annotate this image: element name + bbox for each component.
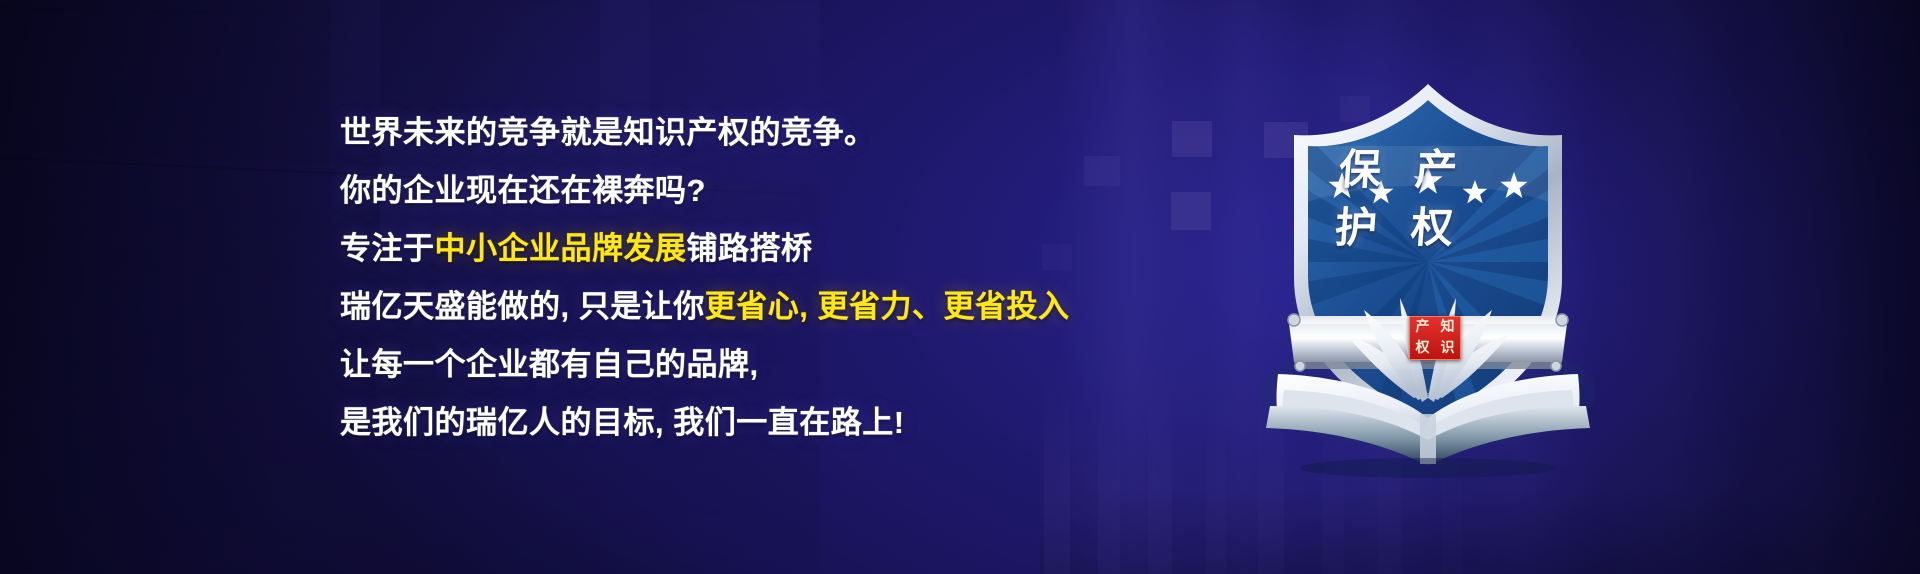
shield-char-1: 保 — [1338, 150, 1383, 192]
headline-line-4-highlight: 更省心, 更省力、更省投入 — [705, 289, 1070, 324]
seal-char-1: 产 — [1416, 321, 1430, 335]
headline-line-3-text-a: 专注于 — [340, 231, 435, 266]
red-seal-stamp: 产 知 权 识 — [1409, 316, 1461, 360]
shield-char-4: 权 — [1409, 208, 1454, 250]
shield-char-2: 产 — [1414, 150, 1459, 192]
promotional-banner: 世界未来的竞争就是知识产权的竞争。 你的企业现在还在裸奔吗? 专注于中小企业品牌… — [0, 0, 1920, 574]
seal-char-4: 识 — [1441, 342, 1455, 356]
headline-line-6-text: 是我们的瑞亿人的目标, 我们一直在路上! — [340, 405, 905, 440]
headline-line-1-text: 世界未来的竞争就是知识产权的竞争。 — [340, 115, 876, 150]
shield-text: 保 产 护 权 — [1316, 142, 1476, 258]
headline-line-1: 世界未来的竞争就是知识产权的竞争。 — [340, 104, 1110, 162]
headline-line-5: 让每一个企业都有自己的品牌, — [340, 336, 1110, 394]
headline-line-4-text: 瑞亿天盛能做的, 只是让你 — [340, 289, 705, 324]
shield-char-3: 护 — [1333, 208, 1378, 250]
headline-line-3: 专注于中小企业品牌发展铺路搭桥 — [340, 220, 1110, 278]
headline-line-6: 是我们的瑞亿人的目标, 我们一直在路上! — [340, 394, 1110, 452]
headline-line-4: 瑞亿天盛能做的, 只是让你更省心, 更省力、更省投入 — [340, 278, 1110, 336]
headline-line-5-text: 让每一个企业都有自己的品牌, — [340, 347, 759, 382]
ip-shield-emblem — [1218, 62, 1638, 482]
seal-char-2: 知 — [1441, 321, 1455, 335]
headline-line-3-highlight: 中小企业品牌发展 — [435, 231, 687, 266]
seal-char-3: 权 — [1416, 342, 1430, 356]
headline-line-2-text: 你的企业现在还在裸奔吗? — [340, 173, 706, 208]
headline-line-2: 你的企业现在还在裸奔吗? — [340, 162, 1110, 220]
headline-copy: 世界未来的竞争就是知识产权的竞争。 你的企业现在还在裸奔吗? 专注于中小企业品牌… — [340, 104, 1110, 452]
headline-line-3-text-b: 铺路搭桥 — [687, 231, 813, 266]
